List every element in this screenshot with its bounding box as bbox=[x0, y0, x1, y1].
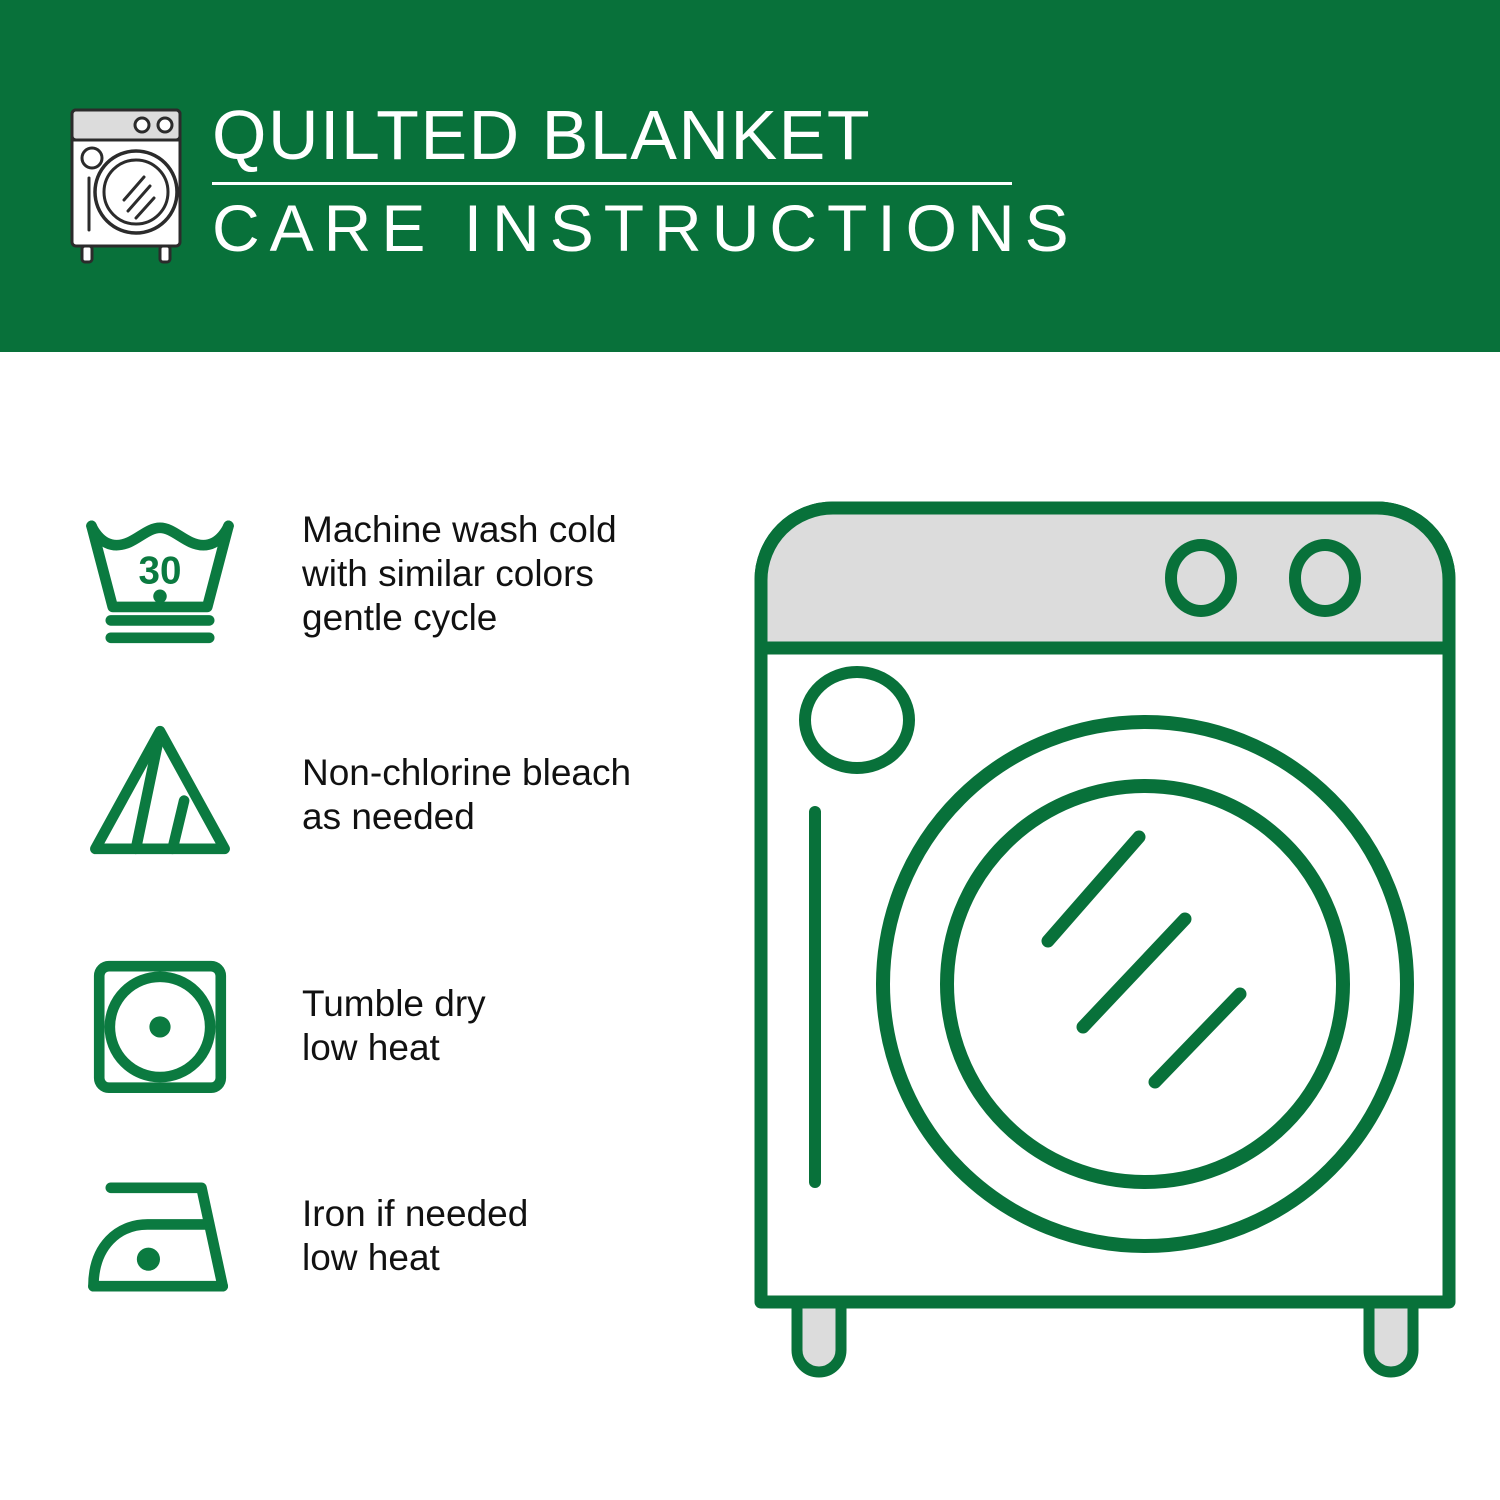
washing-machine-icon bbox=[62, 96, 194, 268]
page-subtitle: CARE INSTRUCTIONS bbox=[212, 193, 1079, 263]
care-instructions-page: QUILTED BLANKET CARE INSTRUCTIONS bbox=[0, 0, 1500, 1500]
care-item-label: Tumble dry low heat bbox=[242, 950, 486, 1070]
care-item-tumble-dry: Tumble dry low heat bbox=[70, 950, 710, 1100]
page-content: 30 Machine wash cold with similar colors… bbox=[0, 352, 1500, 1500]
page-header: QUILTED BLANKET CARE INSTRUCTIONS bbox=[0, 0, 1500, 352]
care-item-machine-wash: 30 Machine wash cold with similar colors… bbox=[70, 502, 710, 652]
control-knob-right bbox=[1295, 545, 1355, 611]
page-title: QUILTED BLANKET bbox=[212, 98, 871, 172]
wash-temperature-label: 30 bbox=[139, 550, 182, 593]
non-chlorine-bleach-icon bbox=[70, 715, 242, 865]
care-item-label: Iron if needed low heat bbox=[242, 1162, 528, 1280]
machine-wash-30-gentle-icon: 30 bbox=[70, 502, 242, 652]
care-item-iron: Iron if needed low heat bbox=[70, 1162, 710, 1312]
header-content: QUILTED BLANKET CARE INSTRUCTIONS bbox=[62, 96, 1079, 268]
control-knob-left bbox=[1171, 545, 1231, 611]
care-item-label: Machine wash cold with similar colors ge… bbox=[242, 502, 617, 640]
title-divider bbox=[212, 182, 1012, 185]
header-titles: QUILTED BLANKET CARE INSTRUCTIONS bbox=[212, 96, 1079, 263]
iron-low-heat-icon bbox=[70, 1162, 242, 1312]
tumble-dry-low-icon bbox=[70, 950, 242, 1100]
detergent-dispenser bbox=[805, 672, 909, 768]
washing-machine-illustration bbox=[735, 482, 1475, 1422]
door-inner-ring bbox=[947, 786, 1343, 1182]
care-item-label: Non-chlorine bleach as needed bbox=[242, 715, 631, 839]
care-item-bleach: Non-chlorine bleach as needed bbox=[70, 715, 710, 865]
